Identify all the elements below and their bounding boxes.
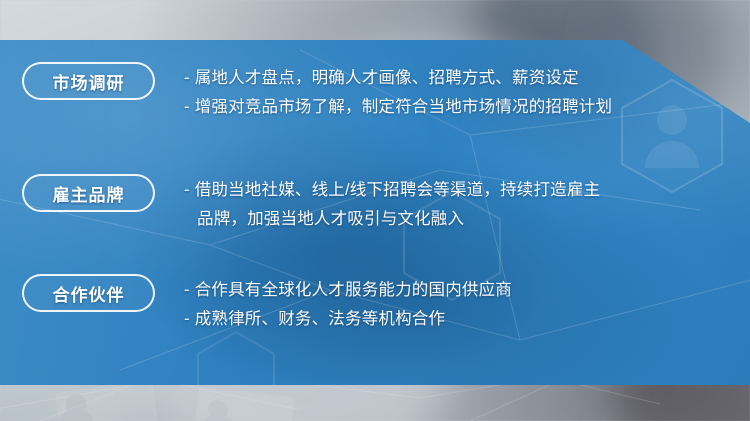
bullet-dash: - (184, 305, 190, 334)
section-bullets: -属地人才盘点，明确人才画像、招聘方式、薪资设定 -增强对竞品市场了解，制定符合… (184, 62, 612, 122)
bullet-line: 品牌，加强当地人才吸引与文化融入 (184, 205, 600, 234)
section-bullets: -合作具有全球化人才服务能力的国内供应商 -成熟律所、财务、法务等机构合作 (184, 274, 512, 334)
bullet-dash: - (184, 276, 190, 305)
bullet-text: 属地人才盘点，明确人才画像、招聘方式、薪资设定 (195, 69, 579, 87)
bullet-dash: - (184, 93, 190, 122)
bullet-line: -合作具有全球化人才服务能力的国内供应商 (184, 276, 512, 305)
section-chip-market-research[interactable]: 市场调研 (22, 62, 155, 100)
bullet-line: -成熟律所、财务、法务等机构合作 (184, 305, 512, 334)
chip-label: 市场调研 (53, 69, 125, 94)
content-rows: 市场调研 -属地人才盘点，明确人才画像、招聘方式、薪资设定 -增强对竞品市场了解… (0, 40, 750, 385)
bullet-dash: - (184, 176, 190, 205)
bullet-line: -增强对竞品市场了解，制定符合当地市场情况的招聘计划 (184, 93, 612, 122)
section-row: 市场调研 -属地人才盘点，明确人才画像、招聘方式、薪资设定 -增强对竞品市场了解… (0, 62, 612, 122)
bullet-dash: - (184, 64, 190, 93)
bullet-text: 品牌，加强当地人才吸引与文化融入 (197, 210, 464, 228)
bullet-line: -属地人才盘点，明确人才画像、招聘方式、薪资设定 (184, 64, 612, 93)
slide-canvas: 市场调研 -属地人才盘点，明确人才画像、招聘方式、薪资设定 -增强对竞品市场了解… (0, 0, 750, 421)
section-chip-employer-brand[interactable]: 雇主品牌 (22, 174, 155, 212)
bullet-text: 借助当地社媒、线上/线下招聘会等渠道，持续打造雇主 (195, 181, 601, 199)
bullet-text: 成熟律所、财务、法务等机构合作 (195, 310, 446, 328)
section-chip-partners[interactable]: 合作伙伴 (22, 274, 155, 312)
bullet-line: -借助当地社媒、线上/线下招聘会等渠道，持续打造雇主 (184, 176, 600, 205)
bullet-text: 合作具有全球化人才服务能力的国内供应商 (195, 281, 512, 299)
section-row: 合作伙伴 -合作具有全球化人才服务能力的国内供应商 -成熟律所、财务、法务等机构… (0, 274, 512, 334)
chip-label: 雇主品牌 (53, 181, 125, 206)
bullet-text: 增强对竞品市场了解，制定符合当地市场情况的招聘计划 (195, 98, 613, 116)
section-bullets: -借助当地社媒、线上/线下招聘会等渠道，持续打造雇主 品牌，加强当地人才吸引与文… (184, 174, 600, 234)
section-row: 雇主品牌 -借助当地社媒、线上/线下招聘会等渠道，持续打造雇主 品牌，加强当地人… (0, 174, 600, 234)
chip-label: 合作伙伴 (53, 281, 125, 306)
